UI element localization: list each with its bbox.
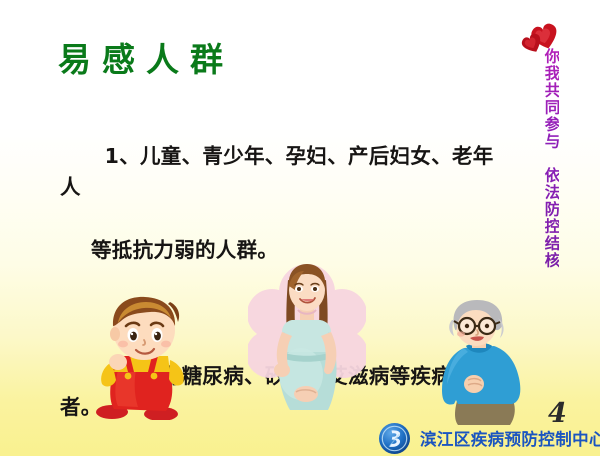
vertical-slogan-text: 你我共同参与 依法防控结核 xyxy=(543,48,559,269)
pregnant-woman-illustration xyxy=(248,258,366,420)
slide-canvas: 易感人群 1、儿童、青少年、孕妇、产后妇女、老年人 等抵抗力弱的人群。 2、患有… xyxy=(0,0,600,456)
elderly-woman-illustration xyxy=(424,300,536,425)
bullet-line-primary: 1、儿童、青少年、孕妇、产后妇女、老年人 xyxy=(60,144,494,199)
organization-name: 滨江区疾病预防控制中心 xyxy=(420,426,600,450)
organization-logo-icon xyxy=(378,422,411,455)
footer-organization: 滨江区疾病预防控制中心 xyxy=(378,421,600,455)
child-illustration xyxy=(88,290,204,420)
vertical-slogan-block: 你我共同参与 依法防控结核 xyxy=(543,48,577,244)
page-title: 易感人群 xyxy=(58,42,234,78)
